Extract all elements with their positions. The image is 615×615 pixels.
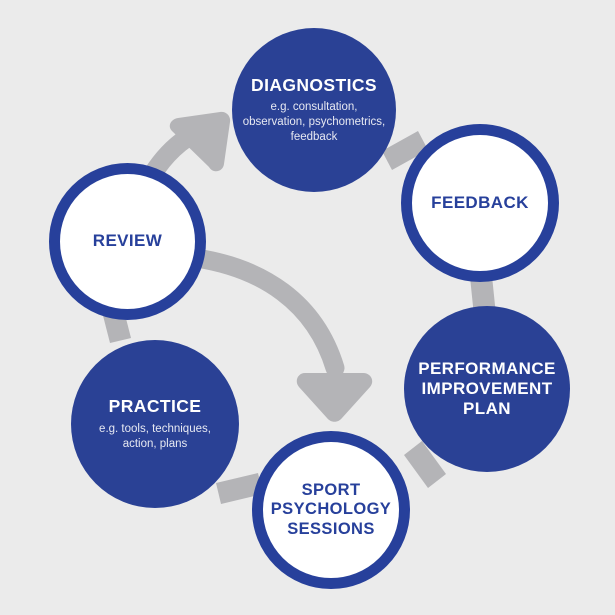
node-performance-improvement-plan[interactable]: PERFORMANCE IMPROVEMENT PLAN: [404, 306, 570, 472]
node-practice[interactable]: PRACTICE e.g. tools, techniques, action,…: [71, 340, 239, 508]
diagram-canvas: DIAGNOSTICS e.g. consultation, observati…: [0, 0, 615, 615]
node-sport-psychology-sessions-title: SPORT PSYCHOLOGY SESSIONS: [261, 481, 401, 539]
node-practice-title: PRACTICE: [109, 396, 202, 417]
node-practice-subtitle: e.g. tools, techniques, action, plans: [82, 422, 228, 452]
node-diagnostics-title: DIAGNOSTICS: [251, 75, 377, 96]
node-diagnostics-subtitle: e.g. consultation, observation, psychome…: [239, 100, 389, 145]
node-review[interactable]: REVIEW: [49, 163, 206, 320]
node-diagnostics[interactable]: DIAGNOSTICS e.g. consultation, observati…: [232, 28, 396, 192]
node-feedback-title: FEEDBACK: [431, 193, 529, 213]
node-feedback[interactable]: FEEDBACK: [401, 124, 559, 282]
node-sport-psychology-sessions[interactable]: SPORT PSYCHOLOGY SESSIONS: [252, 431, 410, 589]
node-review-title: REVIEW: [93, 231, 162, 251]
node-performance-improvement-plan-title: PERFORMANCE IMPROVEMENT PLAN: [411, 359, 563, 419]
